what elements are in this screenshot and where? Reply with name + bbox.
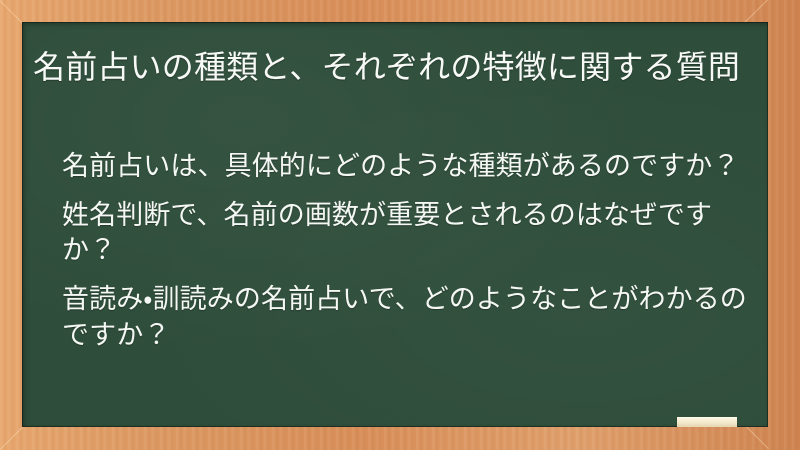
chalk-icon <box>677 417 737 427</box>
list-item: 名前占いは、具体的にどのような種類があるのですか？ <box>62 149 752 185</box>
list-item: 姓名判断で、名前の画数が重要とされるのはなぜですか？ <box>62 198 752 269</box>
chalkboard-slide: 名前占いの種類と、それぞれの特徴に関する質問 名前占いは、具体的にどのような種類… <box>0 0 800 450</box>
list-item: 音読み・訓読みの名前占いで、どのようなことがわかるのですか？ <box>62 282 752 353</box>
question-list: 名前占いは、具体的にどのような種類があるのですか？ 姓名判断で、名前の画数が重要… <box>62 149 752 353</box>
chalkboard-surface: 名前占いの種類と、それぞれの特徴に関する質問 名前占いは、具体的にどのような種類… <box>22 22 768 427</box>
page-title: 名前占いの種類と、それぞれの特徴に関する質問 <box>33 47 749 89</box>
